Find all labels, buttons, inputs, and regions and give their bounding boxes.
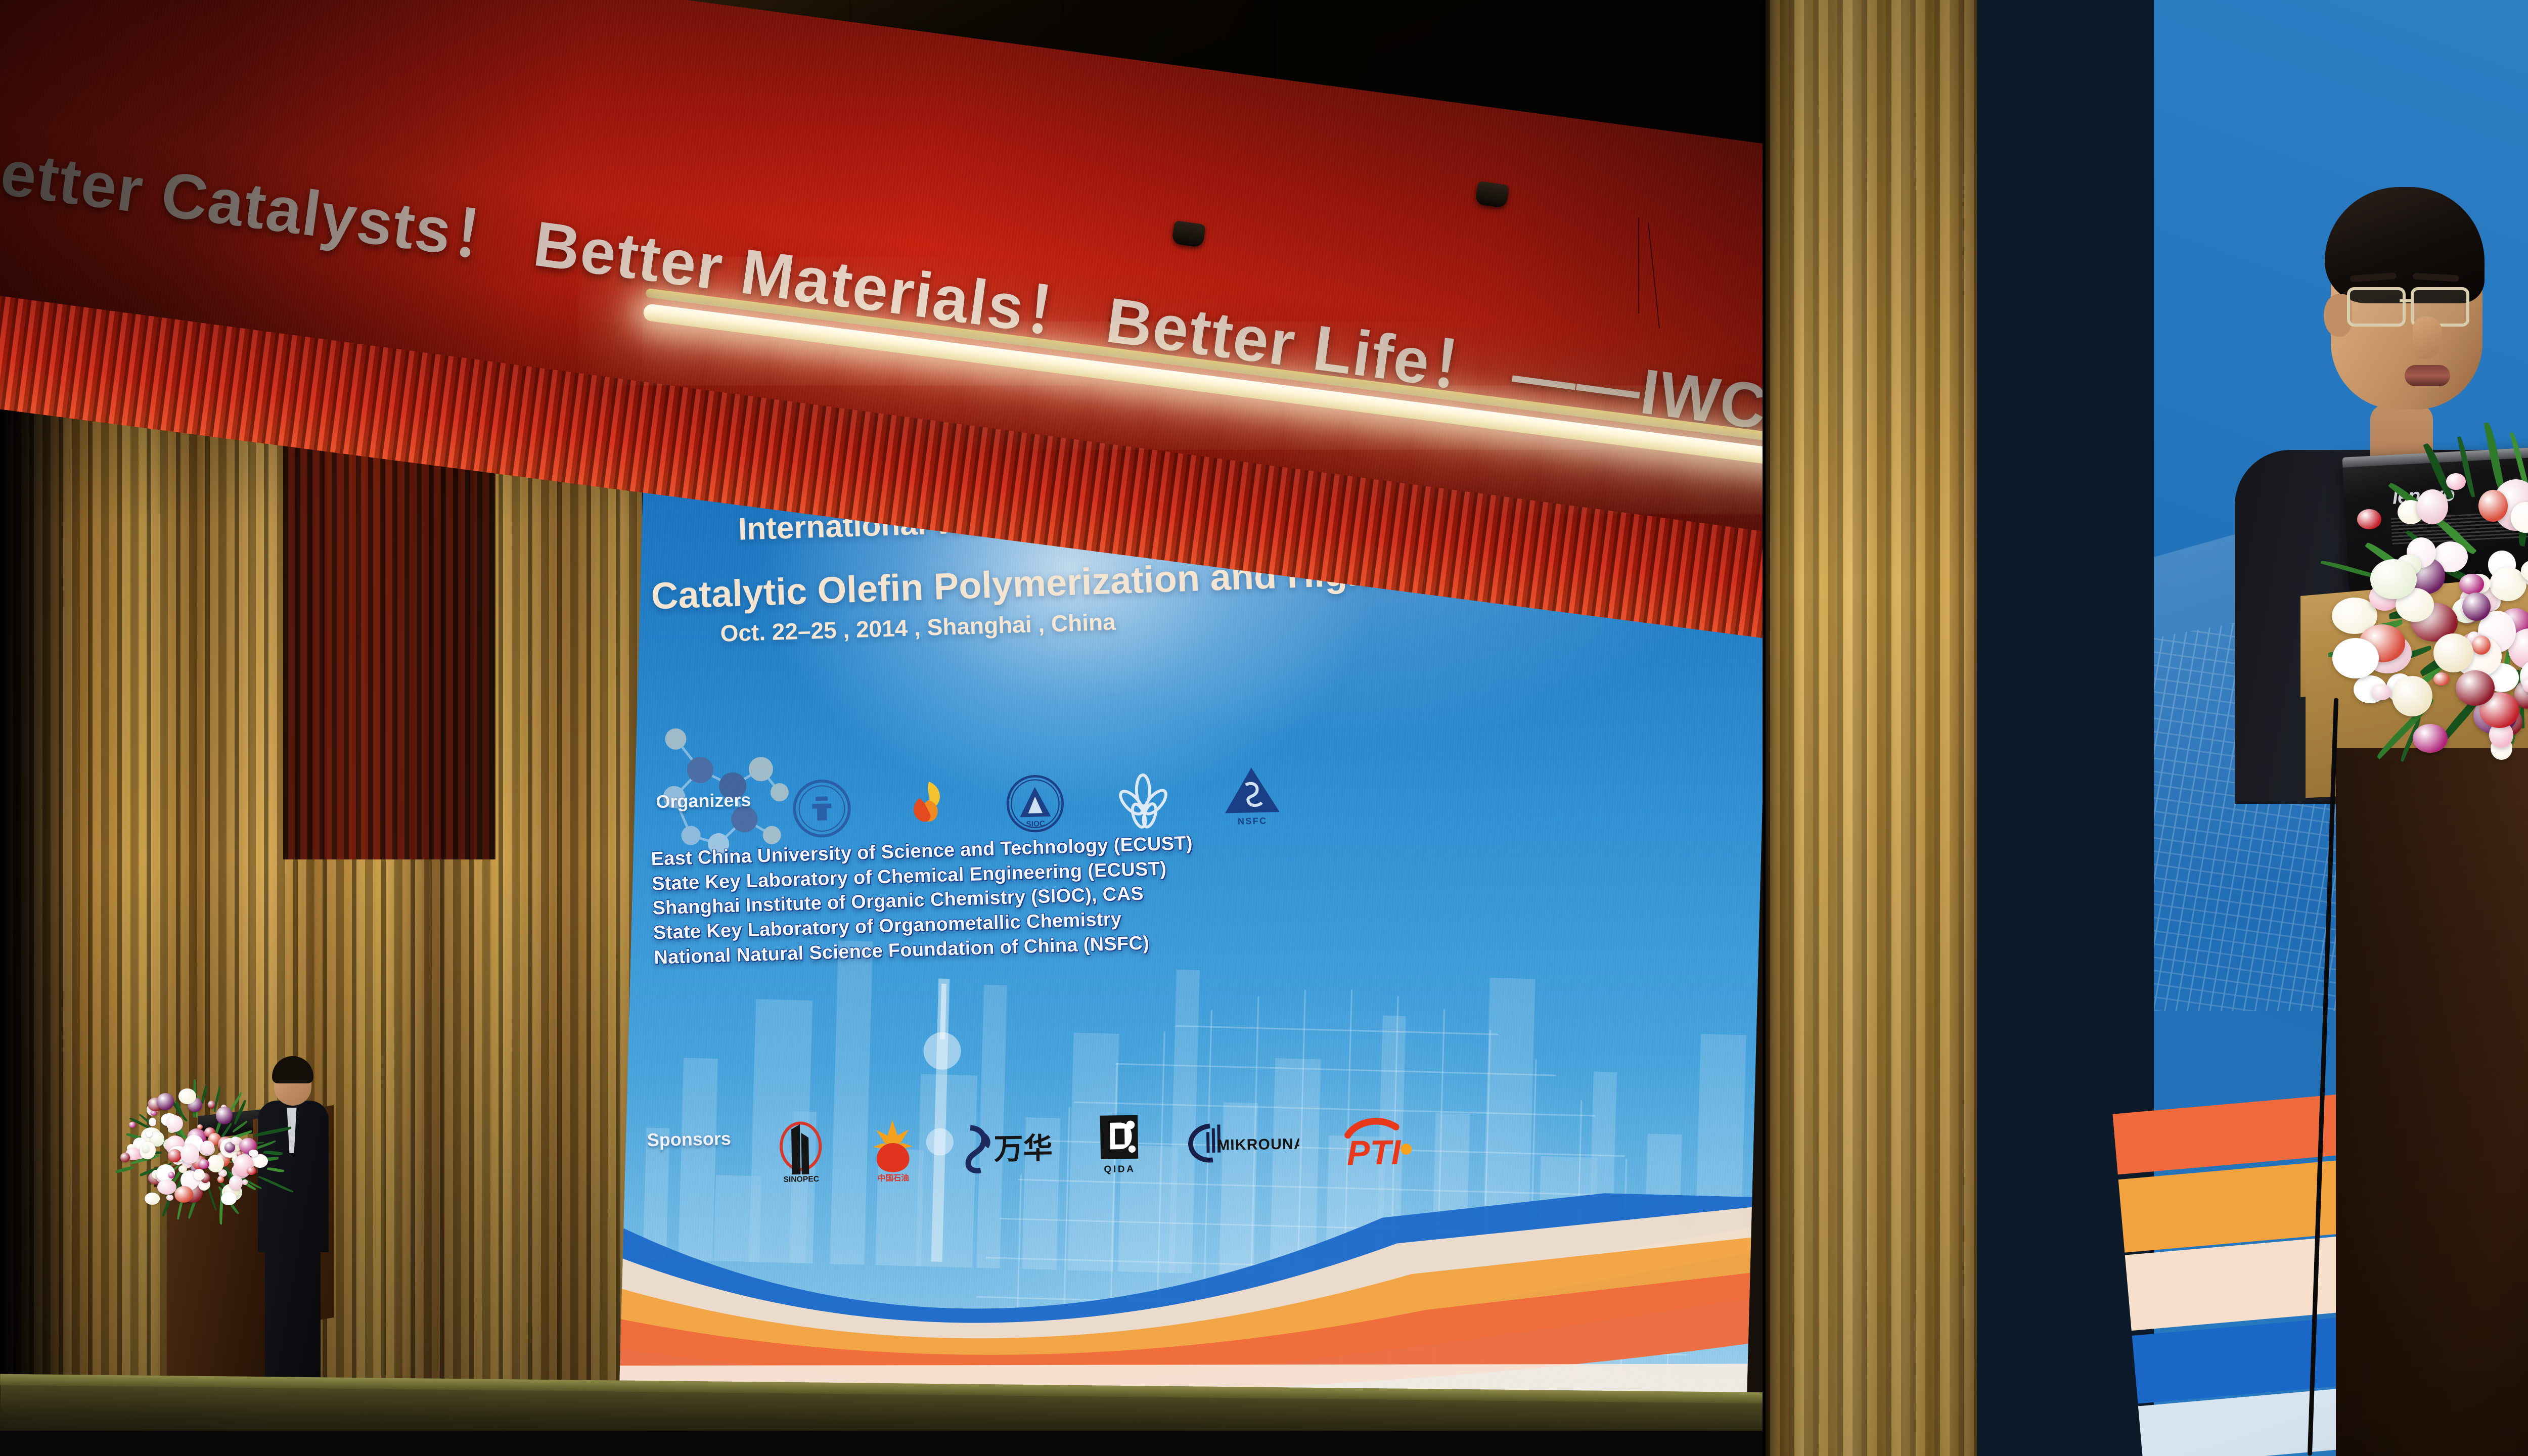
- bouquet-leaf: [115, 1166, 134, 1173]
- speaker-nose: [2413, 316, 2442, 359]
- bouquet-flower: [221, 1192, 237, 1205]
- bouquet-flower: [2372, 684, 2391, 700]
- conference-photo: International Workshop on Catalytic Olef…: [0, 0, 2528, 1456]
- bouquet-flower: [2417, 489, 2448, 524]
- bouquet-flower: [2433, 633, 2473, 672]
- bouquet-flower: [129, 1122, 136, 1128]
- ecust-seal-logo: [791, 778, 852, 839]
- bouquet-leaf: [263, 1150, 283, 1157]
- sponsors-label: Sponsors: [647, 1128, 731, 1151]
- bouquet-flower: [145, 1193, 159, 1205]
- bouquet-flower: [208, 1101, 215, 1109]
- bouquet-flower: [168, 1149, 182, 1162]
- bouquet-flower: [2433, 672, 2450, 686]
- organizer-name-list: East China University of Science and Tec…: [651, 831, 1196, 970]
- bouquet-flower: [166, 1195, 173, 1201]
- bouquet-flower: [157, 1093, 174, 1110]
- stage-left-bouquet: [101, 1082, 283, 1223]
- pti-wordmark: PTI: [1346, 1132, 1402, 1170]
- sklce-flame-logo: [899, 776, 958, 837]
- eyeglasses-left-lens: [2347, 287, 2406, 327]
- bouquet-flower: [201, 1141, 214, 1154]
- pti-logo: PTI: [1335, 1113, 1431, 1170]
- qida-wordmark: QIDA: [1104, 1164, 1135, 1175]
- panel-divider: [1763, 0, 1766, 1456]
- bouquet-leaf: [200, 1085, 208, 1104]
- bouquet-flower: [2478, 490, 2508, 522]
- mikrouna-wordmark: MIKROUNA: [1217, 1135, 1300, 1154]
- bouquet-flower: [180, 1144, 199, 1164]
- bouquet-flower: [2413, 724, 2448, 753]
- bouquet-flower: [174, 1186, 193, 1203]
- speaker-mouth: [2405, 365, 2450, 386]
- sioc-triangle-logo: SIOC: [1005, 773, 1066, 834]
- bouquet-flower: [143, 1145, 149, 1152]
- podium-shading: [2336, 748, 2528, 1456]
- bouquet-flower: [120, 1153, 130, 1162]
- wanhua-logo: 万华: [956, 1120, 1056, 1174]
- petrochina-logo: 中国石油: [865, 1116, 921, 1182]
- wanhua-wordmark: 万华: [994, 1132, 1053, 1166]
- podium-closeup-view: lenovo: [1765, 0, 2528, 1456]
- bouquet-flower: [2370, 559, 2417, 599]
- speaker-hair: [2325, 187, 2485, 303]
- bouquet-flower: [242, 1179, 248, 1185]
- bouquet-flower: [2392, 676, 2432, 716]
- svg-text:NSFC: NSFC: [1238, 815, 1268, 826]
- bouquet-flower: [207, 1155, 224, 1172]
- bouquet-flower: [194, 1169, 205, 1181]
- bouquet-flower: [216, 1107, 233, 1124]
- bouquet-flower: [231, 1136, 239, 1145]
- eyeglasses-bridge: [2400, 299, 2413, 302]
- organizers-label: Organizers: [656, 789, 751, 812]
- bouquet-flower: [217, 1176, 224, 1183]
- bouquet-flower: [2462, 593, 2491, 621]
- bouquet-flower: [199, 1159, 209, 1169]
- hanging-wire: [1638, 217, 1639, 313]
- bouquet-flower: [247, 1167, 256, 1175]
- bouquet-flower: [157, 1179, 176, 1195]
- bouquet-flower: [149, 1118, 156, 1126]
- mikrouna-logo: MIKROUNA: [1183, 1118, 1299, 1169]
- bouquet-flower: [2357, 509, 2381, 529]
- qida-logo: QIDA: [1092, 1111, 1147, 1180]
- banner-ribbon-swooshes: [619, 1167, 1752, 1414]
- bouquet-flower: [168, 1172, 174, 1178]
- bouquet-flower: [2456, 670, 2494, 706]
- bouquet-flower: [2446, 473, 2465, 490]
- bouquet-flower: [2459, 574, 2485, 595]
- bouquet-flower: [178, 1088, 196, 1104]
- bouquet-flower: [229, 1175, 243, 1190]
- gold-curtain-right: [1765, 0, 1977, 1456]
- flower-bouquet: [2280, 430, 2528, 794]
- bouquet-leaf: [267, 1166, 285, 1173]
- svg-text:SIOC: SIOC: [1026, 820, 1045, 829]
- bouquet-flower: [197, 1124, 203, 1130]
- bouquet-flower: [2332, 638, 2379, 678]
- wide-stage-view: International Workshop on Catalytic Olef…: [0, 0, 1765, 1456]
- sklomc-flower-logo: [1113, 770, 1174, 832]
- bouquet-flower: [146, 1130, 152, 1136]
- speaker-hair: [272, 1056, 313, 1083]
- auditorium-floor: [0, 1431, 1765, 1456]
- bouquet-flower: [2472, 635, 2491, 655]
- curtain-shading: [1765, 0, 1977, 1456]
- curtain-edge-shadow: [0, 263, 71, 1456]
- nsfc-triangle-logo: NSFC: [1221, 763, 1283, 830]
- organizer-logos-row: SIOC NSFC: [791, 748, 1450, 839]
